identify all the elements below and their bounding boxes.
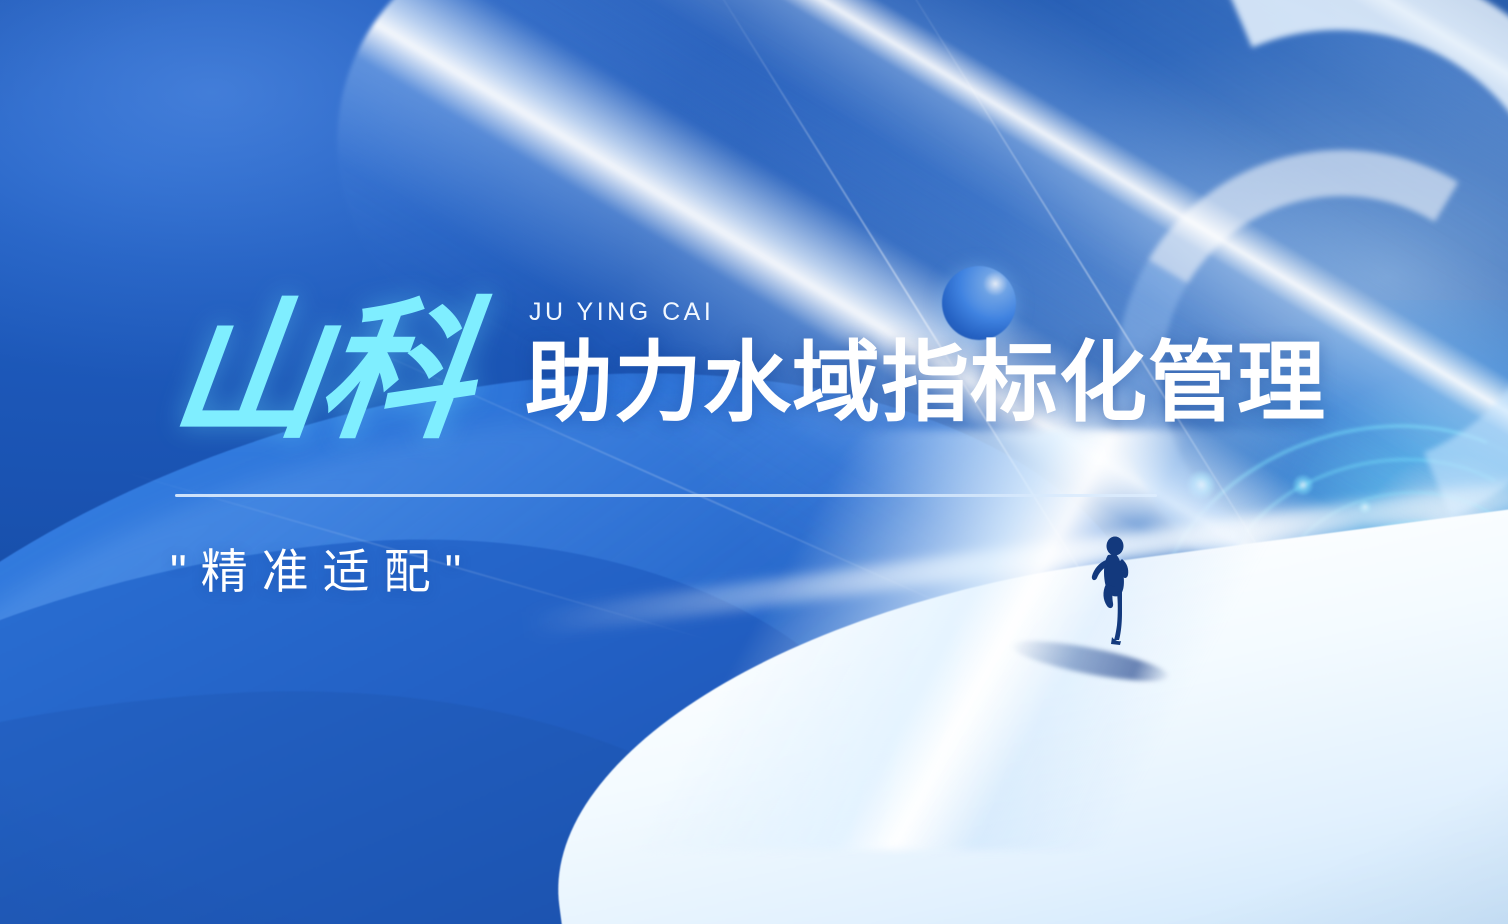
- divider-line: [175, 494, 1157, 497]
- banner-content: 山科 JU YING CAI 助力水域指标化管理 "精准适配": [0, 0, 1508, 924]
- headline: 助力水域指标化管理: [525, 339, 1385, 427]
- title-block: JU YING CAI 助力水域指标化管理: [525, 300, 1385, 427]
- brand-lockup: 山科: [173, 296, 469, 448]
- banner-canvas: 山科 JU YING CAI 助力水域指标化管理 "精准适配": [0, 0, 1508, 924]
- brand-pinyin: JU YING CAI: [529, 300, 1385, 325]
- brand-name-cn: 山科: [164, 296, 479, 448]
- tagline: "精准适配": [170, 546, 475, 599]
